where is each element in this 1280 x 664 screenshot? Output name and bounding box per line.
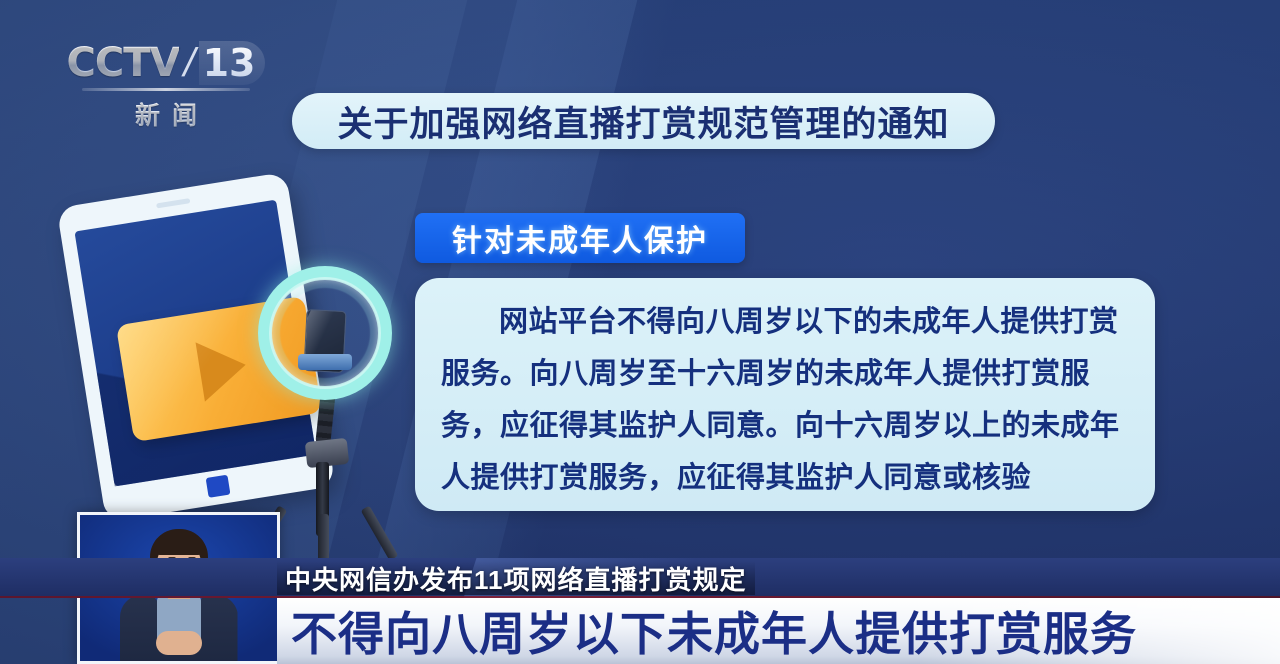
tablet-home-button-icon — [206, 475, 231, 498]
regulation-body-text: 网站平台不得向八周岁以下的未成年人提供打赏服务。向八周岁至十六周岁的未成年人提供… — [441, 296, 1129, 504]
tablet-speaker-notch — [156, 198, 190, 208]
livestream-illustration — [60, 178, 460, 558]
broadcast-stage: CCTV / 13 新闻 — [0, 0, 1280, 664]
tripod-leg-center — [318, 514, 329, 564]
notice-title-text: 关于加强网络直播打赏规范管理的通知 — [337, 96, 949, 147]
section-badge-text: 针对未成年人保护 — [452, 216, 708, 260]
notice-title-pill: 关于加强网络直播打赏规范管理的通知 — [292, 93, 995, 149]
anchor-hair-fringe — [153, 535, 205, 555]
lower-third-subtitle-text: 中央网信办发布11项网络直播打赏规定 — [285, 560, 747, 597]
play-button-icon — [195, 335, 250, 401]
phone-clamp-icon — [298, 354, 352, 370]
lower-third-headline-text: 不得向八周岁以下未成年人提供打赏服务 — [291, 598, 1137, 664]
logo-number-wrap: 13 — [199, 41, 266, 85]
logo-slash-icon: / — [180, 41, 201, 86]
logo-cctv-text: CCTV — [67, 40, 180, 86]
cctv13-logo: CCTV / 13 新闻 — [78, 40, 254, 132]
lower-third-headline-bar: 不得向八周岁以下未成年人提供打赏服务 — [277, 598, 1280, 664]
logo-underline-divider — [82, 88, 250, 91]
regulation-body-card: 网站平台不得向八周岁以下的未成年人提供打赏服务。向八周岁至十六周岁的未成年人提供… — [415, 278, 1155, 511]
anchor-hands — [156, 631, 202, 655]
logo-channel-number: 13 — [203, 41, 256, 85]
ring-light-icon — [258, 266, 392, 400]
logo-channel-subname: 新闻 — [78, 96, 254, 132]
lower-third-subtitle: 中央网信办发布11项网络直播打赏规定 — [277, 561, 755, 595]
logo-top-row: CCTV / 13 — [78, 40, 254, 86]
section-badge: 针对未成年人保护 — [415, 213, 745, 263]
tripod-leg-right — [361, 506, 399, 561]
